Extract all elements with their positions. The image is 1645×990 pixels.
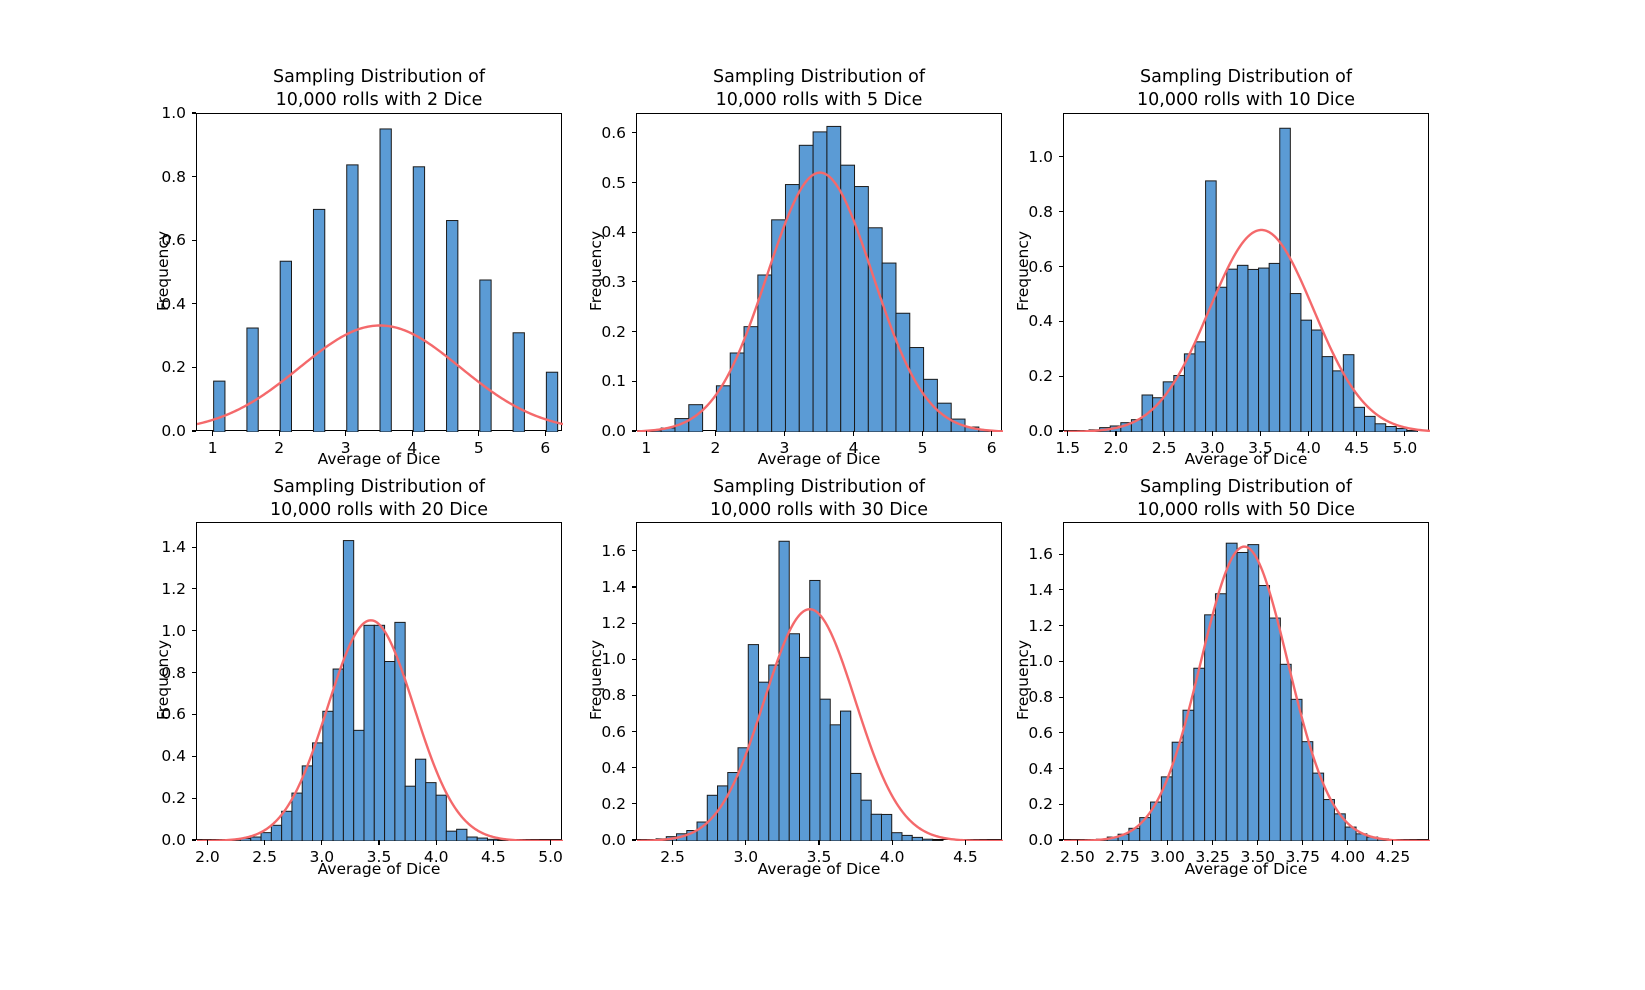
x-tick-label: 4 (407, 439, 417, 457)
x-tick-mark (1115, 431, 1116, 436)
histogram-bar (251, 837, 261, 841)
x-tick-label: 2.0 (1104, 439, 1129, 457)
x-axis-label: Average of Dice (196, 860, 562, 878)
y-tick-mark (1059, 156, 1064, 157)
histogram-bar (1302, 742, 1313, 841)
y-tick-mark (1059, 768, 1064, 769)
y-tick-label: 0.2 (993, 795, 1053, 813)
chart-panel: Sampling Distribution of 10,000 rolls wi… (0, 0, 1645, 990)
histogram-bar (1118, 834, 1129, 841)
y-tick-label: 0.6 (566, 124, 626, 142)
plot-area (636, 113, 1002, 431)
y-tick-mark (192, 112, 197, 113)
histogram-bar (1259, 268, 1270, 432)
x-tick-mark (1077, 840, 1078, 845)
y-tick-mark (192, 430, 197, 431)
histogram-bar (214, 381, 225, 432)
x-tick-label: 3.5 (807, 848, 832, 866)
histogram-bar (261, 833, 271, 841)
y-tick-label: 1.2 (126, 580, 186, 598)
histogram-bar (647, 431, 661, 432)
x-tick-mark (545, 431, 546, 436)
histogram-bar (810, 580, 820, 841)
histogram-bar (513, 333, 524, 432)
histogram-bar (656, 839, 666, 841)
histogram-bar (687, 831, 697, 841)
histogram-bar (677, 834, 687, 841)
histogram-bar (436, 795, 446, 841)
x-tick-label: 1 (208, 439, 218, 457)
x-tick-label: 3.25 (1195, 848, 1230, 866)
histogram-bar (1291, 699, 1302, 841)
y-tick-mark (1059, 321, 1064, 322)
histogram-bar (343, 541, 353, 841)
histogram-bar (1324, 800, 1335, 841)
histogram-bar (728, 773, 738, 841)
histogram-bar (881, 814, 891, 841)
histogram-bar (447, 221, 458, 432)
y-tick-label: 0.6 (126, 705, 186, 723)
plot-area (1063, 522, 1429, 840)
y-tick-label: 0.2 (566, 323, 626, 341)
x-tick-label: 4.0 (1296, 439, 1321, 457)
y-tick-label: 1.0 (126, 622, 186, 640)
normal-fit-curve (637, 609, 1003, 841)
x-tick-mark (436, 840, 437, 845)
y-tick-label: 0.2 (126, 358, 186, 376)
plot-area (196, 113, 562, 431)
x-tick-label: 3.00 (1150, 848, 1185, 866)
y-tick-mark (632, 731, 637, 732)
x-tick-label: 3.75 (1286, 848, 1321, 866)
x-tick-label: 4.0 (424, 848, 449, 866)
chart-panel: Sampling Distribution of 10,000 rolls wi… (0, 0, 1645, 990)
y-tick-mark (632, 381, 637, 382)
normal-fit-curve (637, 173, 1003, 432)
y-tick-mark (632, 281, 637, 282)
y-tick-label: 1.2 (993, 617, 1053, 635)
histogram-bars (656, 541, 943, 841)
histogram-canvas (637, 523, 1003, 841)
histogram-bar (830, 725, 840, 841)
x-tick-mark (784, 431, 785, 436)
histogram-bar (840, 711, 850, 841)
x-tick-label: 3.0 (309, 848, 334, 866)
y-tick-label: 1.4 (126, 538, 186, 556)
histogram-bar (546, 372, 557, 432)
histogram-bar (882, 263, 896, 432)
histogram-bar (282, 811, 292, 841)
histogram-bar (488, 839, 498, 841)
x-tick-label: 1.5 (1055, 439, 1080, 457)
normal-fit-curve (1064, 547, 1430, 841)
histogram-bar (799, 145, 813, 432)
x-tick-label: 5.0 (538, 848, 563, 866)
histogram-bar (1237, 265, 1248, 432)
histogram-bar (697, 822, 707, 841)
histogram-bar (1184, 354, 1195, 432)
x-tick-label: 3.0 (1200, 439, 1225, 457)
histogram-bar (1333, 371, 1344, 432)
chart-panel: Sampling Distribution of 10,000 rolls wi… (0, 0, 1645, 990)
histogram-bar (933, 840, 943, 841)
x-tick-mark (493, 840, 494, 845)
chart-panel: Sampling Distribution of 10,000 rolls wi… (0, 0, 1645, 990)
x-tick-label: 3.50 (1240, 848, 1275, 866)
histogram-bar (1386, 427, 1397, 432)
histogram-canvas (197, 114, 563, 432)
histogram-bar (446, 831, 456, 841)
y-tick-label: 0.8 (993, 203, 1053, 221)
histogram-bar (1313, 773, 1324, 841)
histogram-bar (1110, 426, 1121, 432)
y-tick-mark (1059, 839, 1064, 840)
x-tick-label: 2.5 (252, 848, 277, 866)
x-tick-mark (1356, 431, 1357, 436)
x-tick-mark (853, 431, 854, 436)
histogram-bar (1237, 552, 1248, 841)
y-tick-label: 1.6 (993, 545, 1053, 563)
x-tick-label: 4.00 (1331, 848, 1366, 866)
x-tick-mark (212, 431, 213, 436)
histogram-bar (426, 783, 436, 841)
x-tick-mark (207, 840, 208, 845)
histogram-bar (1280, 664, 1291, 841)
x-tick-mark (672, 840, 673, 845)
histogram-bar (1259, 586, 1270, 841)
chart-panel: Sampling Distribution of 10,000 rolls wi… (0, 0, 1645, 990)
histogram-bar (730, 353, 744, 432)
x-axis-label: Average of Dice (636, 860, 1002, 878)
histogram-bar (1100, 428, 1111, 432)
y-tick-mark (632, 331, 637, 332)
histogram-bar (1131, 420, 1142, 432)
y-tick-label: 0.1 (566, 372, 626, 390)
y-axis-label: Frequency (1014, 521, 1032, 839)
histogram-bar (910, 348, 924, 432)
histogram-bar (924, 379, 938, 432)
histogram-bar (347, 165, 358, 432)
y-tick-label: 1.2 (566, 614, 626, 632)
y-tick-mark (192, 714, 197, 715)
histogram-bar (313, 209, 324, 432)
histogram-bar (759, 682, 769, 841)
histogram-bar (1195, 342, 1206, 432)
histogram-bar (1356, 834, 1367, 841)
x-tick-mark (745, 840, 746, 845)
histogram-canvas (1064, 114, 1430, 432)
y-tick-label: 0.6 (566, 723, 626, 741)
x-tick-mark (1347, 840, 1348, 845)
x-tick-label: 4.25 (1376, 848, 1411, 866)
histogram-bars (214, 129, 558, 432)
x-tick-label: 6 (540, 439, 550, 457)
histogram-bar (1183, 710, 1194, 841)
x-tick-mark (378, 840, 379, 845)
panel-title: Sampling Distribution of 10,000 rolls wi… (1063, 476, 1429, 522)
plot-area (196, 522, 562, 840)
histogram-bar (415, 759, 425, 841)
y-tick-label: 0.3 (566, 273, 626, 291)
y-tick-mark (1059, 554, 1064, 555)
histogram-bar (785, 185, 799, 432)
y-tick-mark (192, 547, 197, 548)
histogram-bar (868, 228, 882, 432)
x-tick-label: 4.5 (481, 848, 506, 866)
histogram-bar (1205, 615, 1216, 841)
histogram-bar (220, 840, 230, 841)
histogram-bar (413, 167, 424, 432)
histogram-canvas (1064, 523, 1430, 841)
histogram-bar (1151, 802, 1162, 841)
y-tick-label: 1.4 (566, 578, 626, 596)
x-tick-label: 4.5 (1344, 439, 1369, 457)
x-axis-label: Average of Dice (196, 450, 562, 468)
histogram-bar (498, 840, 508, 841)
histogram-bar (827, 126, 841, 432)
histogram-bar (675, 419, 689, 432)
y-tick-mark (632, 132, 637, 133)
y-tick-mark (192, 588, 197, 589)
histogram-bar (1345, 827, 1356, 841)
x-tick-mark (1122, 840, 1123, 845)
panel-title: Sampling Distribution of 10,000 rolls wi… (1063, 66, 1429, 112)
histogram-bar (354, 730, 364, 841)
x-tick-label: 3 (341, 439, 351, 457)
histogram-bar (302, 766, 312, 841)
y-tick-mark (1059, 376, 1064, 377)
histogram-bar (744, 327, 758, 432)
y-tick-mark (192, 303, 197, 304)
y-tick-label: 0.4 (566, 223, 626, 241)
histogram-bar (1334, 814, 1345, 841)
histogram-bar (1248, 545, 1259, 841)
histogram-bar (1365, 416, 1376, 432)
y-tick-mark (632, 550, 637, 551)
histogram-bar (772, 220, 786, 432)
histogram-bar (1227, 269, 1238, 432)
y-tick-label: 1.0 (993, 652, 1053, 670)
histogram-bar (1121, 423, 1132, 432)
histogram-bar (892, 833, 902, 841)
histogram-bar (292, 793, 302, 841)
histogram-bar (1161, 777, 1172, 841)
histogram-bars (647, 126, 992, 432)
panel-title: Sampling Distribution of 10,000 rolls wi… (196, 476, 562, 522)
x-tick-mark (412, 431, 413, 436)
histogram-bar (1206, 181, 1217, 432)
x-tick-mark (646, 431, 647, 436)
histogram-bar (707, 795, 717, 841)
histogram-bar (841, 165, 855, 432)
x-tick-mark (892, 840, 893, 845)
y-tick-label: 1.4 (993, 581, 1053, 599)
x-tick-mark (264, 840, 265, 845)
x-tick-label: 3.5 (367, 848, 392, 866)
histogram-bar (716, 386, 730, 432)
histogram-bar (1153, 398, 1164, 432)
x-tick-mark (1260, 431, 1261, 436)
histogram-bar (851, 773, 861, 841)
histogram-bar (1215, 594, 1226, 841)
y-tick-mark (632, 695, 637, 696)
y-tick-mark (632, 586, 637, 587)
panel-title: Sampling Distribution of 10,000 rolls wi… (636, 476, 1002, 522)
y-tick-label: 0.0 (126, 831, 186, 849)
y-tick-mark (1059, 625, 1064, 626)
histogram-bar (374, 625, 384, 841)
histogram-bar (871, 814, 881, 841)
y-tick-mark (1059, 589, 1064, 590)
histogram-bar (323, 711, 333, 841)
histogram-bar (813, 132, 827, 432)
x-tick-label: 5.0 (1393, 439, 1418, 457)
histogram-bar (789, 634, 799, 841)
y-tick-label: 0.8 (566, 686, 626, 704)
histogram-bar (313, 743, 323, 841)
y-tick-mark (192, 630, 197, 631)
histogram-bar (1216, 287, 1227, 432)
y-tick-mark (632, 623, 637, 624)
histogram-bar (965, 427, 979, 432)
y-tick-mark (1059, 661, 1064, 662)
histogram-bar (661, 428, 675, 432)
histogram-bar (758, 275, 772, 432)
plot-area (636, 522, 1002, 840)
histogram-bar (364, 625, 374, 841)
histogram-bar (820, 699, 830, 841)
histogram-bar (1301, 320, 1312, 432)
histogram-bar (1226, 543, 1237, 841)
normal-fit-curve (197, 325, 563, 424)
x-axis-label: Average of Dice (1063, 860, 1429, 878)
histogram-bar (1142, 395, 1153, 432)
y-tick-mark (632, 803, 637, 804)
x-tick-label: 2 (710, 439, 720, 457)
x-tick-label: 3.5 (1248, 439, 1273, 457)
y-tick-mark (1059, 211, 1064, 212)
y-tick-label: 0.6 (126, 231, 186, 249)
histogram-bar (902, 835, 912, 841)
y-tick-label: 0.0 (566, 422, 626, 440)
x-tick-mark (922, 431, 923, 436)
histogram-bar (1269, 263, 1280, 432)
y-tick-mark (192, 672, 197, 673)
y-tick-mark (632, 839, 637, 840)
y-tick-mark (192, 798, 197, 799)
y-tick-mark (192, 367, 197, 368)
y-tick-mark (632, 430, 637, 431)
histogram-bar (405, 786, 415, 841)
y-tick-label: 0.4 (126, 295, 186, 313)
histogram-bar (477, 838, 487, 841)
y-tick-label: 1.0 (126, 104, 186, 122)
y-tick-mark (192, 756, 197, 757)
x-tick-mark (550, 840, 551, 845)
y-tick-label: 0.4 (566, 759, 626, 777)
y-tick-label: 1.0 (993, 148, 1053, 166)
x-axis-label: Average of Dice (1063, 450, 1429, 468)
y-tick-mark (192, 839, 197, 840)
x-tick-label: 5 (918, 439, 928, 457)
plot-area (1063, 113, 1429, 431)
histogram-bar (769, 665, 779, 841)
histogram-bar (1343, 355, 1354, 432)
normal-fit-curve (197, 620, 563, 841)
y-axis-label: Frequency (154, 112, 172, 430)
x-tick-label: 4 (849, 439, 859, 457)
histogram-bar (937, 403, 951, 432)
histogram-bar (1354, 407, 1365, 432)
x-tick-label: 2.0 (195, 848, 220, 866)
y-tick-label: 0.8 (993, 688, 1053, 706)
y-tick-mark (632, 659, 637, 660)
histogram-bar (1163, 382, 1174, 432)
y-tick-label: 1.0 (566, 650, 626, 668)
x-tick-label: 6 (987, 439, 997, 457)
histogram-bar (912, 837, 922, 841)
histogram-bar (1367, 837, 1378, 841)
x-tick-label: 2.75 (1105, 848, 1140, 866)
histogram-canvas (197, 523, 563, 841)
y-tick-label: 0.0 (993, 422, 1053, 440)
histogram-bar (1248, 269, 1259, 432)
y-tick-label: 0.8 (126, 168, 186, 186)
histogram-bar (1375, 424, 1386, 432)
histogram-bar (951, 419, 965, 432)
histogram-bar (738, 748, 748, 841)
y-tick-label: 0.4 (993, 760, 1053, 778)
y-tick-label: 1.6 (566, 542, 626, 560)
histogram-bar (395, 622, 405, 841)
x-tick-mark (279, 431, 280, 436)
x-tick-mark (991, 431, 992, 436)
histogram-bar (1174, 376, 1185, 432)
y-tick-label: 0.4 (126, 747, 186, 765)
histogram-bar (1280, 128, 1291, 432)
y-axis-label: Frequency (1014, 112, 1032, 430)
y-tick-mark (632, 182, 637, 183)
histogram-bar (271, 825, 281, 841)
y-tick-label: 0.5 (566, 174, 626, 192)
histogram-bar (1078, 431, 1089, 432)
y-tick-mark (1059, 732, 1064, 733)
y-tick-mark (632, 767, 637, 768)
histogram-bars (1086, 543, 1400, 841)
histogram-bar (1194, 668, 1205, 841)
y-tick-label: 0.2 (566, 795, 626, 813)
histogram-bar (855, 187, 869, 432)
x-tick-mark (1212, 431, 1213, 436)
histogram-bar (240, 838, 250, 841)
x-tick-label: 2.5 (660, 848, 685, 866)
y-tick-mark (1059, 266, 1064, 267)
x-tick-mark (715, 431, 716, 436)
x-tick-label: 2 (274, 439, 284, 457)
x-tick-label: 4.0 (880, 848, 905, 866)
x-tick-label: 3 (780, 439, 790, 457)
x-tick-label: 4.5 (953, 848, 978, 866)
y-tick-label: 0.0 (566, 831, 626, 849)
histogram-bar (1389, 840, 1400, 841)
chart-panel: Sampling Distribution of 10,000 rolls wi… (0, 0, 1645, 990)
panel-title: Sampling Distribution of 10,000 rolls wi… (196, 66, 562, 112)
y-tick-label: 0.0 (126, 422, 186, 440)
panel-title: Sampling Distribution of 10,000 rolls wi… (636, 66, 1002, 112)
y-tick-label: 0.6 (993, 258, 1053, 276)
x-tick-label: 5 (474, 439, 484, 457)
y-tick-mark (632, 232, 637, 233)
